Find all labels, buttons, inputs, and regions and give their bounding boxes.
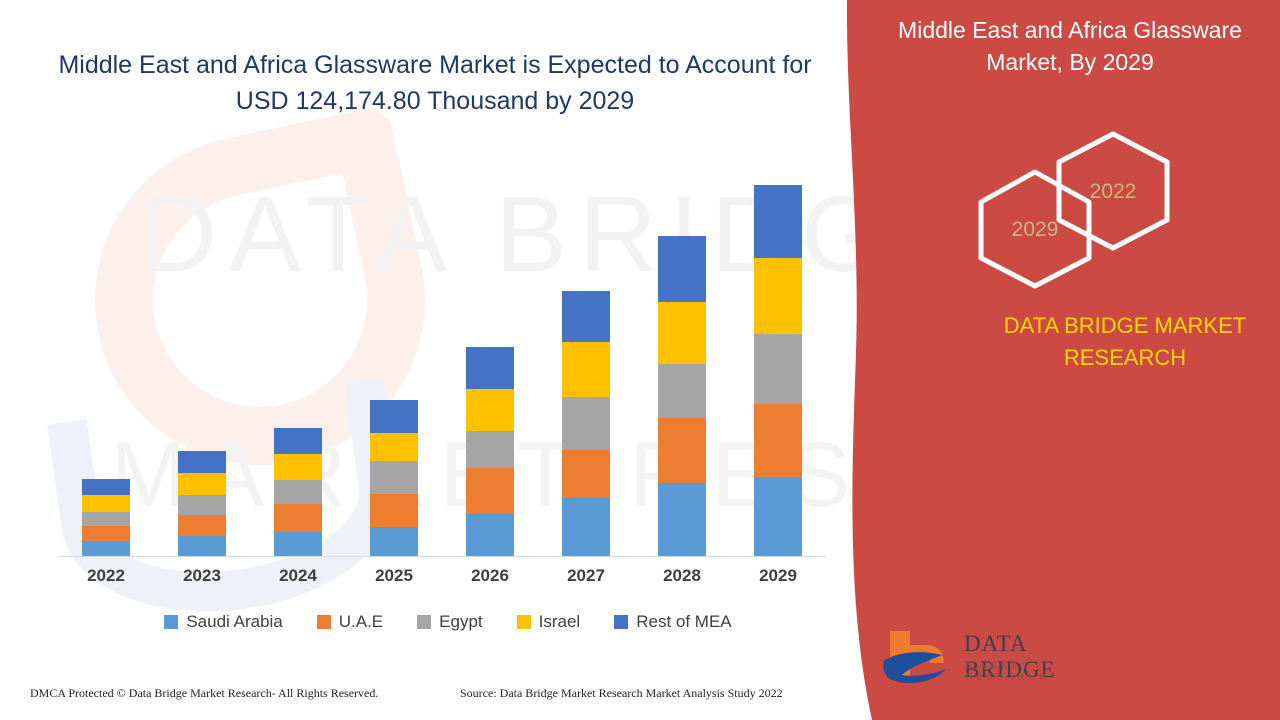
bar-segment-u-a-e bbox=[562, 450, 610, 498]
panel-title: Middle East and Africa Glassware Market,… bbox=[880, 14, 1260, 78]
stacked-bar bbox=[754, 185, 802, 556]
bar-segment-egypt bbox=[562, 397, 610, 450]
stacked-bar bbox=[658, 236, 706, 556]
bar-segment-saudi-arabia bbox=[82, 541, 130, 556]
bar-segment-u-a-e bbox=[658, 418, 706, 483]
hexagon-2029-label: 2029 bbox=[981, 218, 1089, 242]
footer-source: Source: Data Bridge Market Research Mark… bbox=[460, 686, 783, 701]
bar-segment-u-a-e bbox=[274, 504, 322, 532]
bar-segment-saudi-arabia bbox=[274, 532, 322, 556]
legend-item-u-a-e[interactable]: U.A.E bbox=[317, 612, 383, 632]
legend-item-egypt[interactable]: Egypt bbox=[417, 612, 482, 632]
legend-label: U.A.E bbox=[339, 612, 383, 632]
bar-column-2027 bbox=[538, 150, 634, 556]
legend-swatch-icon bbox=[164, 615, 178, 629]
bar-column-2022 bbox=[58, 150, 154, 556]
bar-segment-rest-of-mea bbox=[466, 347, 514, 389]
x-axis-label-2029: 2029 bbox=[730, 566, 826, 586]
x-axis-line bbox=[58, 556, 826, 557]
data-bridge-logo: DATA BRIDGE MARKET RESEARCH bbox=[880, 625, 1120, 695]
x-axis-label-2028: 2028 bbox=[634, 566, 730, 586]
x-axis-label-2027: 2027 bbox=[538, 566, 634, 586]
x-axis-label-2022: 2022 bbox=[58, 566, 154, 586]
stacked-bar bbox=[562, 291, 610, 556]
bar-segment-rest-of-mea bbox=[562, 291, 610, 342]
bar-segment-saudi-arabia bbox=[658, 483, 706, 556]
legend-item-israel[interactable]: Israel bbox=[517, 612, 581, 632]
bar-segment-saudi-arabia bbox=[178, 536, 226, 556]
legend-swatch-icon bbox=[417, 615, 431, 629]
bar-column-2026 bbox=[442, 150, 538, 556]
stacked-bar bbox=[370, 400, 418, 556]
stacked-bar bbox=[466, 347, 514, 556]
x-axis-label-2026: 2026 bbox=[442, 566, 538, 586]
legend-swatch-icon bbox=[517, 615, 531, 629]
bar-segment-saudi-arabia bbox=[466, 514, 514, 556]
bar-segment-egypt bbox=[82, 512, 130, 526]
bar-segment-rest-of-mea bbox=[274, 428, 322, 454]
bar-segment-rest-of-mea bbox=[754, 185, 802, 258]
bar-segment-israel bbox=[658, 302, 706, 364]
footer-copyright: DMCA Protected © Data Bridge Market Rese… bbox=[30, 686, 378, 701]
bar-segment-rest-of-mea bbox=[82, 479, 130, 495]
bar-segment-egypt bbox=[754, 334, 802, 404]
bar-segment-u-a-e bbox=[82, 526, 130, 541]
bar-column-2024 bbox=[250, 150, 346, 556]
bar-segment-egypt bbox=[658, 364, 706, 418]
legend-item-saudi-arabia[interactable]: Saudi Arabia bbox=[164, 612, 282, 632]
bar-segment-u-a-e bbox=[466, 468, 514, 514]
legend-label: Rest of MEA bbox=[636, 612, 731, 632]
bar-segment-u-a-e bbox=[754, 404, 802, 477]
bar-segment-egypt bbox=[466, 431, 514, 468]
legend-label: Egypt bbox=[439, 612, 482, 632]
bar-column-2025 bbox=[346, 150, 442, 556]
brand-name-text: DATA BRIDGE MARKET RESEARCH bbox=[960, 310, 1280, 374]
legend-label: Israel bbox=[539, 612, 581, 632]
hexagon-group: 2022 2029 bbox=[975, 130, 1190, 290]
logo-subtext: MARKET RESEARCH bbox=[966, 661, 1120, 683]
bar-segment-israel bbox=[370, 433, 418, 461]
bar-segment-rest-of-mea bbox=[178, 451, 226, 473]
bar-segment-egypt bbox=[370, 461, 418, 494]
legend-item-rest-of-mea[interactable]: Rest of MEA bbox=[614, 612, 731, 632]
x-axis-label-2023: 2023 bbox=[154, 566, 250, 586]
bar-segment-israel bbox=[82, 495, 130, 512]
bar-segment-israel bbox=[754, 258, 802, 334]
bar-column-2028 bbox=[634, 150, 730, 556]
bar-segment-u-a-e bbox=[370, 494, 418, 527]
x-axis-label-2024: 2024 bbox=[250, 566, 346, 586]
bar-segment-israel bbox=[562, 342, 610, 397]
bar-segment-egypt bbox=[274, 480, 322, 504]
bar-segment-egypt bbox=[178, 495, 226, 515]
bar-segment-saudi-arabia bbox=[370, 527, 418, 556]
logo-divider bbox=[964, 658, 1112, 659]
bar-segment-saudi-arabia bbox=[754, 477, 802, 556]
bar-segment-israel bbox=[466, 389, 514, 431]
x-axis-labels: 20222023202420252026202720282029 bbox=[58, 566, 826, 586]
bar-segment-israel bbox=[178, 473, 226, 495]
legend-swatch-icon bbox=[614, 615, 628, 629]
infographic-canvas: DATA BRIDGE MARKET RESEARCH Middle East … bbox=[0, 0, 1280, 720]
chart-legend: Saudi ArabiaU.A.EEgyptIsraelRest of MEA bbox=[58, 612, 838, 632]
bar-column-2023 bbox=[154, 150, 250, 556]
stacked-bar-chart bbox=[58, 150, 826, 556]
data-bridge-logo-mark bbox=[880, 627, 958, 689]
stacked-bar bbox=[178, 451, 226, 556]
bar-segment-saudi-arabia bbox=[562, 498, 610, 556]
stacked-bar bbox=[82, 479, 130, 556]
chart-title: Middle East and Africa Glassware Market … bbox=[40, 48, 830, 119]
bar-segment-u-a-e bbox=[178, 515, 226, 536]
bar-column-2029 bbox=[730, 150, 826, 556]
stacked-bar bbox=[274, 428, 322, 556]
legend-swatch-icon bbox=[317, 615, 331, 629]
bar-segment-israel bbox=[274, 454, 322, 480]
legend-label: Saudi Arabia bbox=[186, 612, 282, 632]
bar-segment-rest-of-mea bbox=[658, 236, 706, 302]
bar-segment-rest-of-mea bbox=[370, 400, 418, 433]
hexagon-2022-label: 2022 bbox=[1059, 180, 1167, 204]
x-axis-label-2025: 2025 bbox=[346, 566, 442, 586]
